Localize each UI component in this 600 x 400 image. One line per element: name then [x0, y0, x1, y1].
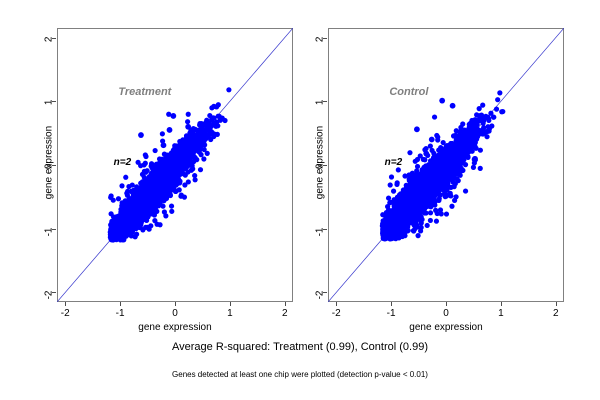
x-axis-title: gene expression	[328, 322, 564, 333]
x-axis-title: gene expression	[57, 322, 293, 333]
x-tick-mark	[501, 302, 502, 306]
y-axis-title: gene expression	[315, 88, 326, 238]
x-tick-mark	[175, 302, 176, 306]
panel-annotation-treatment: n=2	[114, 157, 132, 168]
x-tick-label: 1	[210, 308, 250, 319]
figure-root: Treatment n=2 Control n=2 -2-1012-2-1012…	[0, 0, 600, 400]
x-tick-label: -1	[371, 308, 411, 319]
x-tick-mark	[120, 302, 121, 306]
x-tick-mark	[230, 302, 231, 306]
x-tick-label: 2	[265, 308, 305, 319]
x-tick-mark	[336, 302, 337, 306]
x-tick-label: 0	[426, 308, 466, 319]
x-tick-mark	[446, 302, 447, 306]
panel-annotation-control: n=2	[385, 157, 403, 168]
x-tick-label: -1	[100, 308, 140, 319]
x-tick-label: 0	[155, 308, 195, 319]
panel-title-control: Control	[389, 86, 428, 98]
y-tick-label: -2	[44, 291, 55, 313]
x-tick-mark	[391, 302, 392, 306]
y-tick-label: -2	[315, 291, 326, 313]
y-axis-title: gene expression	[44, 88, 55, 238]
x-tick-mark	[65, 302, 66, 306]
scatter-plot-treatment	[57, 28, 293, 302]
x-tick-label: 2	[536, 308, 576, 319]
scatter-plot-control	[328, 28, 564, 302]
panel-control: Control n=2	[328, 28, 564, 302]
caption-detection-note: Genes detected at least one chip were pl…	[0, 370, 600, 379]
panel-title-treatment: Treatment	[118, 86, 171, 98]
y-tick-label: 2	[44, 36, 55, 58]
panel-treatment: Treatment n=2	[57, 28, 293, 302]
x-tick-label: 1	[481, 308, 521, 319]
x-tick-mark	[556, 302, 557, 306]
x-tick-mark	[285, 302, 286, 306]
caption-average-r-squared: Average R-squared: Treatment (0.99), Con…	[0, 341, 600, 353]
y-tick-label: 2	[315, 36, 326, 58]
